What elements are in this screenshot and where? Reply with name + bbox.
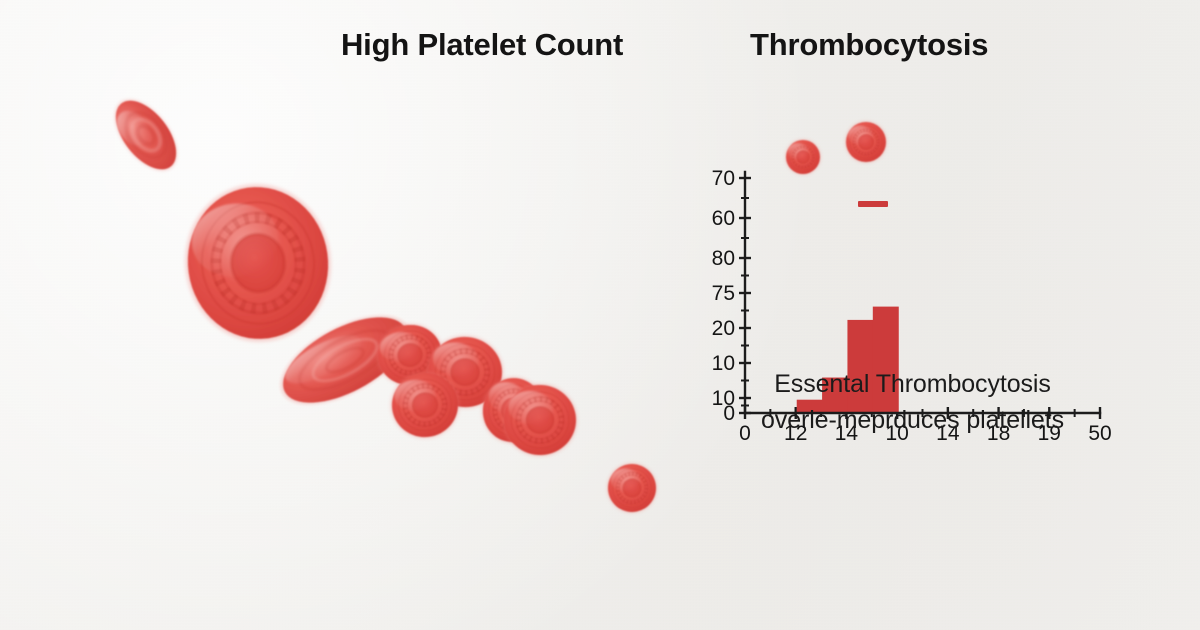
y-axis-tick-label: 60 (712, 207, 735, 230)
y-axis-tick-label: 70 (712, 167, 735, 190)
page-title-left: High Platelet Count (341, 27, 623, 63)
platelet-float-right (838, 114, 894, 170)
blood-cell-small-e (496, 377, 584, 463)
y-axis-tick-label: 20 (712, 317, 735, 340)
y-axis-tick-label: 80 (712, 247, 735, 270)
caption-line-2: overle-meprduces platellets (700, 403, 1125, 439)
platelet-float-left (778, 132, 828, 182)
caption-line-1: Essental Thrombocytosis (700, 367, 1125, 403)
blood-cell-small-c (384, 365, 466, 445)
y-axis-tick-label: 75 (712, 282, 735, 305)
chart-caption: Essental Thrombocytosis overle-meprduces… (700, 367, 1125, 438)
page-title-right: Thrombocytosis (750, 27, 988, 63)
blood-cell-bottom-right (600, 456, 664, 520)
blood-cell-top-left (116, 87, 176, 183)
legend-dash-marker (858, 201, 888, 207)
illustration-canvas: High Platelet Count Thrombocytosis 70608… (0, 0, 1200, 630)
